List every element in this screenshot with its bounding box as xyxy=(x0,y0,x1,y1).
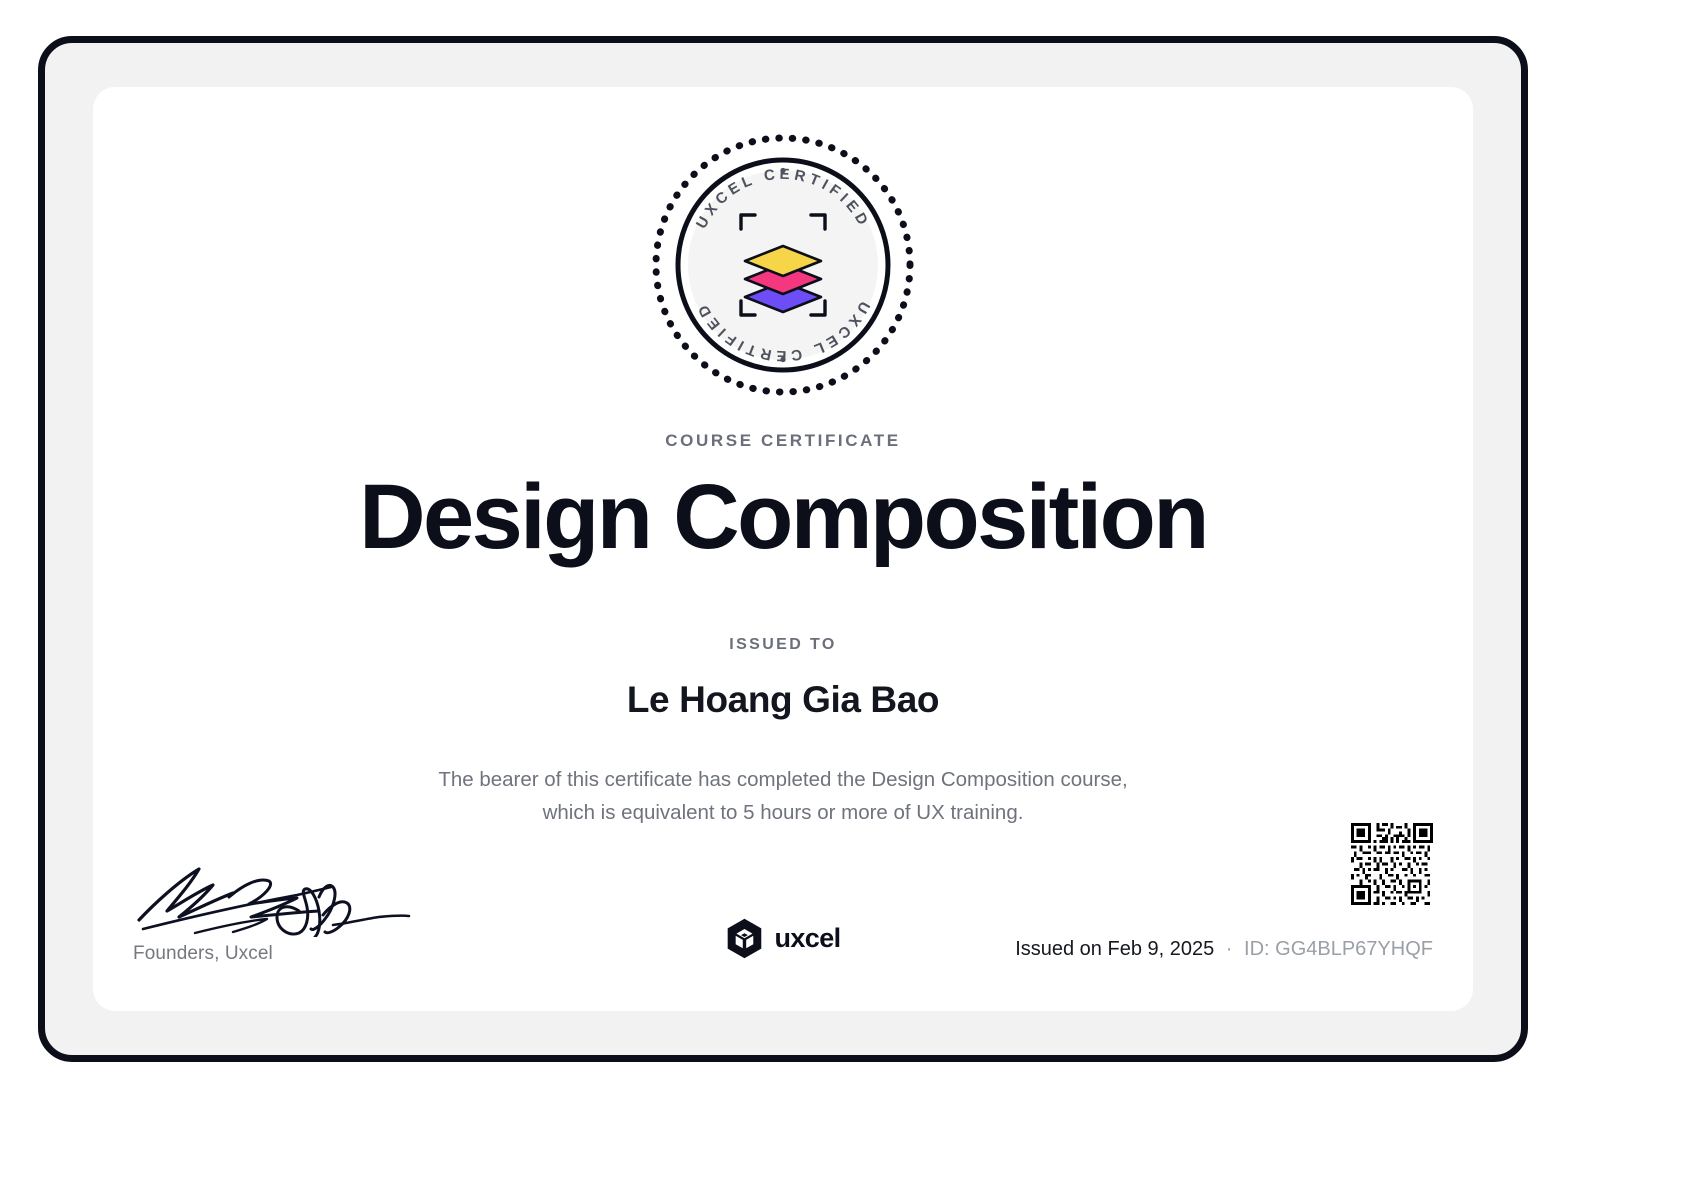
issue-separator: · xyxy=(1220,938,1239,960)
certificate-id: ID: GG4BLP67YHQF xyxy=(1244,938,1433,960)
certificate-card: UXCEL CERTIFIED UXCEL CERTIFIED xyxy=(93,87,1473,1011)
founder-signatures-image xyxy=(133,857,415,937)
page-title: Design Composition xyxy=(93,469,1473,566)
signature-caption: Founders, Uxcel xyxy=(133,943,433,965)
certificate-frame: UXCEL CERTIFIED UXCEL CERTIFIED xyxy=(38,36,1528,1062)
issued-to-eyebrow: ISSUED TO xyxy=(93,636,1473,654)
issue-info: Issued on Feb 9, 2025 · ID: GG4BLP67YHQF xyxy=(1015,938,1433,961)
certificate-description: The bearer of this certificate has compl… xyxy=(273,763,1293,829)
course-certificate-eyebrow: COURSE CERTIFICATE xyxy=(93,431,1473,451)
signature-block: Founders, Uxcel xyxy=(133,857,433,965)
certificate-qr-code[interactable] xyxy=(1351,823,1433,905)
layers-icon xyxy=(745,246,821,312)
uxcel-brand: uxcel xyxy=(725,918,840,959)
certification-seal: UXCEL CERTIFIED UXCEL CERTIFIED xyxy=(649,131,917,399)
description-line-1: The bearer of this certificate has compl… xyxy=(273,763,1293,796)
description-line-2: which is equivalent to 5 hours or more o… xyxy=(273,796,1293,829)
uxcel-wordmark: uxcel xyxy=(774,923,840,954)
issue-date: Issued on Feb 9, 2025 xyxy=(1015,938,1214,960)
uxcel-hexagon-logo-icon xyxy=(725,918,763,959)
recipient-name: Le Hoang Gia Bao xyxy=(93,679,1473,721)
